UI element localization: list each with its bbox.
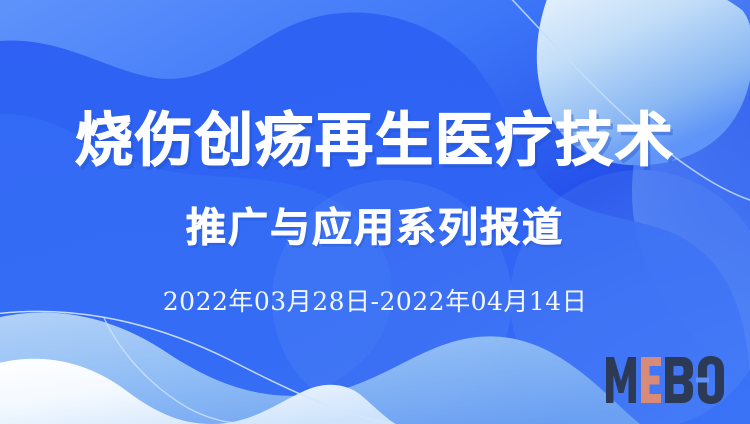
date-range-label: 2022年03月28日-2022年04月14日 <box>0 285 750 319</box>
page-title: 烧伤创疡再生医疗技术 <box>0 103 750 177</box>
mebo-logo <box>604 355 724 405</box>
mebo-logo-letter-o <box>696 356 724 404</box>
page-subtitle: 推广与应用系列报道 <box>0 200 750 256</box>
mebo-logo-letter-e <box>641 357 661 403</box>
mebo-logo-letter-b <box>665 357 693 403</box>
poster-banner: 烧伤创疡再生医疗技术 推广与应用系列报道 2022年03月28日-2022年04… <box>0 0 750 424</box>
mebo-logo-letter-m <box>606 357 636 403</box>
mebo-logo-o-notch <box>696 378 709 383</box>
